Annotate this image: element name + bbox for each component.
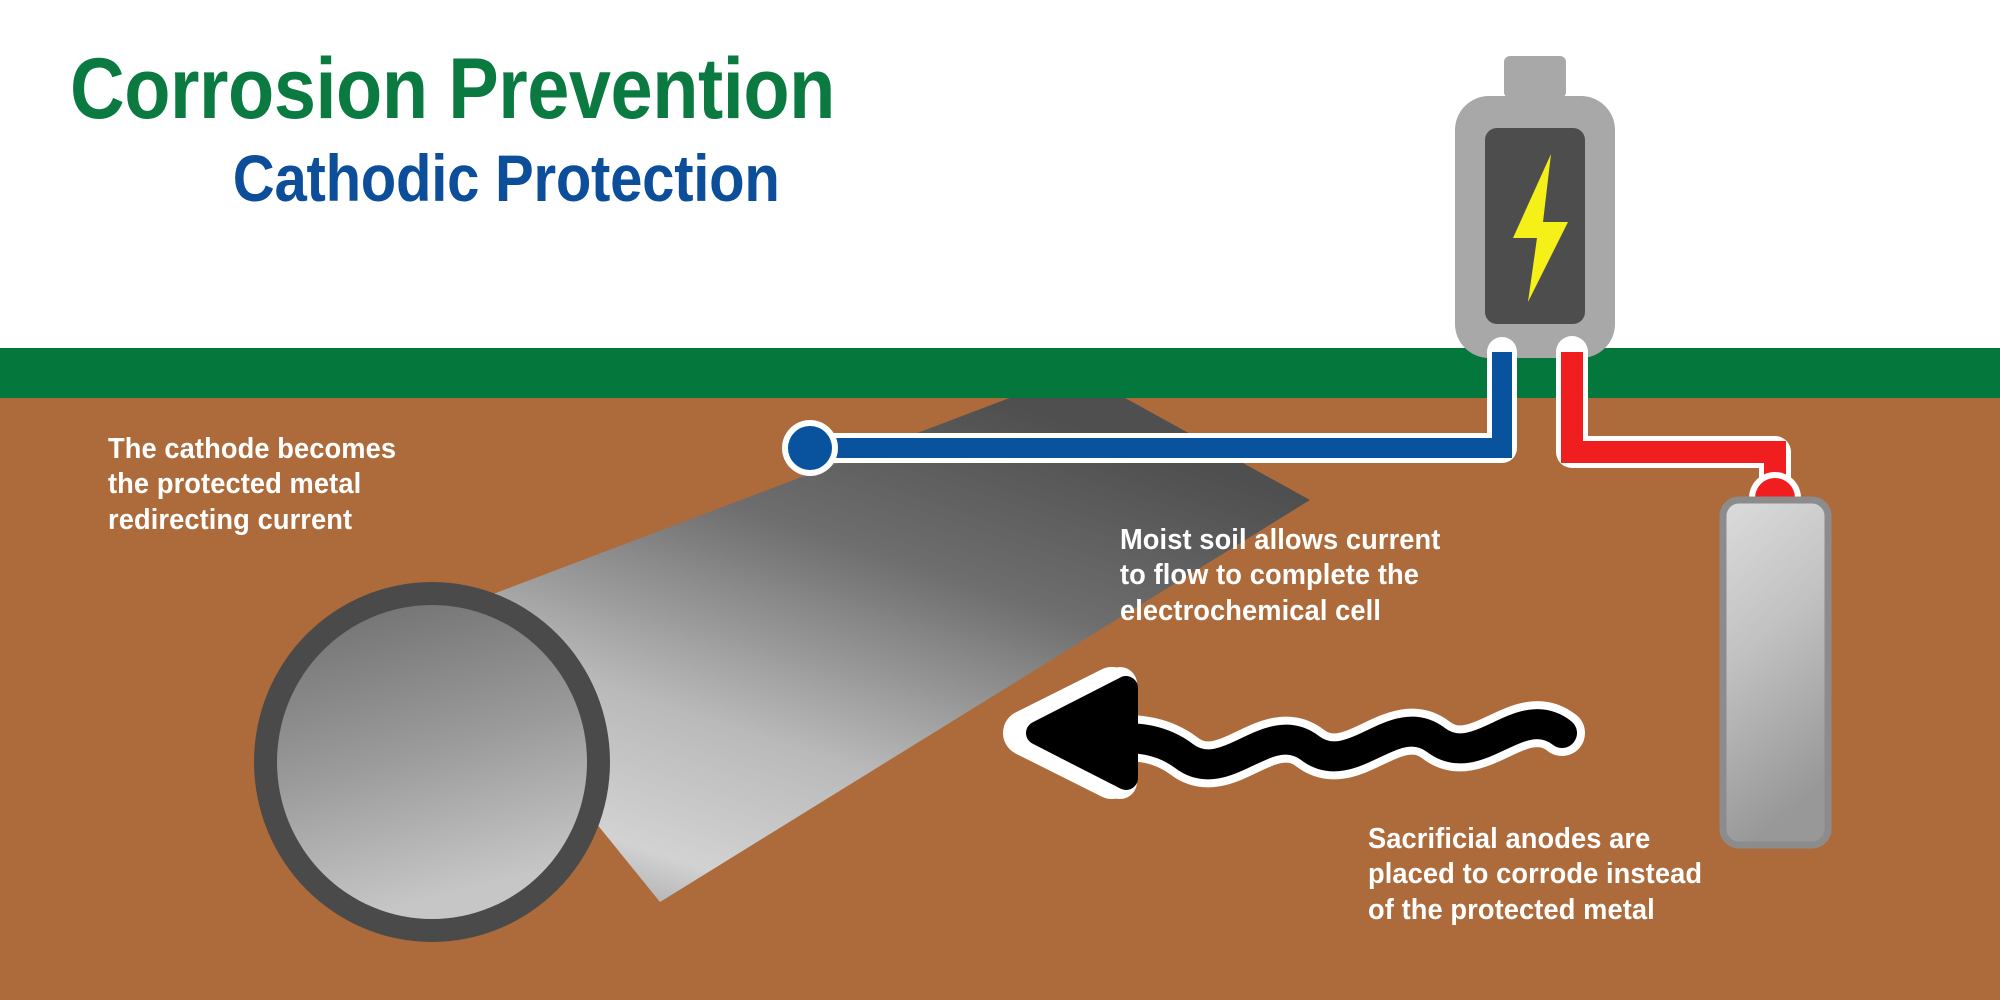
callout-cathode-line2: the protected metal — [108, 467, 396, 502]
positive-wire-core — [1572, 352, 1775, 500]
callout-cathode-line1: The cathode becomes — [108, 432, 396, 467]
callout-moist-soil: Moist soil allows current to flow to com… — [1120, 523, 1440, 629]
callout-cathode: The cathode becomes the protected metal … — [108, 432, 396, 538]
current-flow-arrow — [1026, 684, 1562, 782]
anode-body — [1723, 500, 1828, 845]
battery[interactable] — [1455, 56, 1615, 358]
callout-soil-line3: electrochemical cell — [1120, 594, 1440, 629]
callout-sacrificial-anode: Sacrificial anodes are placed to corrode… — [1368, 822, 1702, 928]
callout-soil-line2: to flow to complete the — [1120, 558, 1440, 593]
pipe-face — [277, 605, 587, 919]
battery-terminal — [1504, 56, 1566, 98]
infographic-canvas: Corrosion Prevention Cathodic Protection — [0, 0, 2000, 1000]
callout-anode-line1: Sacrificial anodes are — [1368, 822, 1702, 857]
callout-anode-line3: of the protected metal — [1368, 893, 1702, 928]
positive-wire-outline — [1572, 352, 1775, 500]
callout-cathode-line3: redirecting current — [108, 503, 396, 538]
sacrificial-anode[interactable] — [1723, 500, 1828, 845]
negative-terminal-dot — [788, 426, 832, 470]
callout-anode-line2: placed to corrode instead — [1368, 857, 1702, 892]
callout-soil-line1: Moist soil allows current — [1120, 523, 1440, 558]
negative-wire-outline — [812, 352, 1502, 448]
